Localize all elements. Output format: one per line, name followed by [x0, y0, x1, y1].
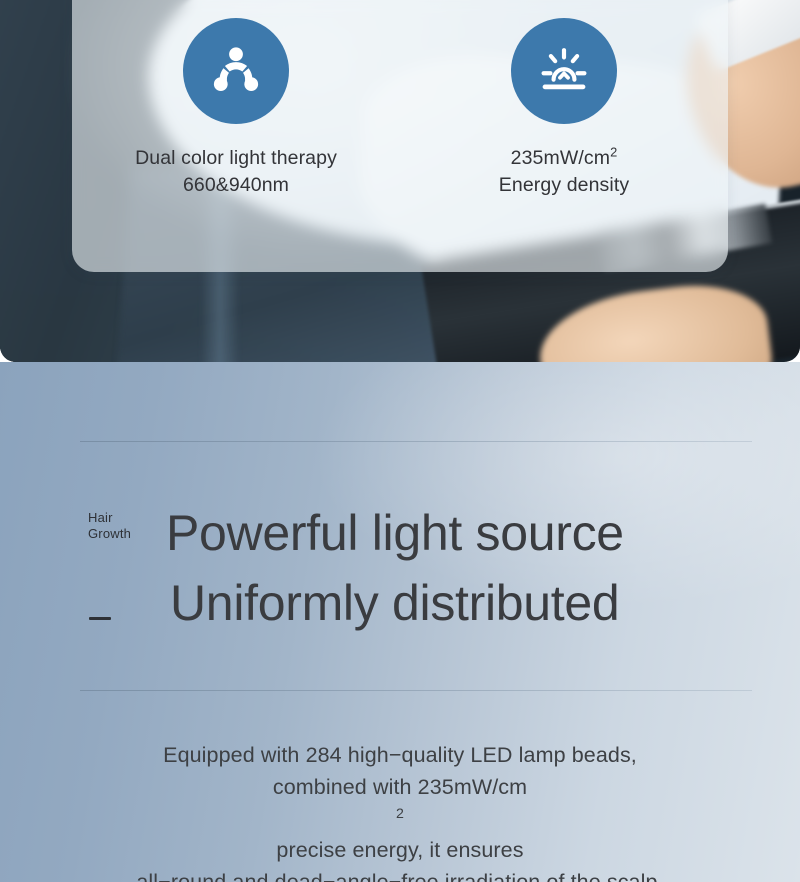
- body-line2-post: precise energy, it ensures: [0, 835, 800, 867]
- feature-caption-line1: 235mW/cm2: [511, 147, 618, 169]
- sunrise-light-icon: [511, 18, 617, 124]
- body-line1: Equipped with 284 high−quality LED lamp …: [0, 740, 800, 772]
- feature-caption-line2: 660&940nm: [135, 172, 337, 199]
- eyebrow-line1: Hair: [88, 510, 113, 525]
- eyebrow-line2: Growth: [88, 526, 131, 542]
- feature-glass-card: Dual color light therapy 660&940nm: [72, 0, 728, 272]
- page-title: Powerful light source Uniformly distribu…: [166, 498, 624, 638]
- feature-caption-line2: Energy density: [499, 172, 629, 199]
- feature-caption-superscript: 2: [610, 145, 617, 160]
- feature-dual-color-light-therapy: Dual color light therapy 660&940nm: [72, 0, 400, 199]
- feature-caption: Dual color light therapy 660&940nm: [135, 145, 337, 199]
- divider-bottom: [80, 690, 752, 691]
- hero-photo-section: Dual color light therapy 660&940nm: [0, 0, 800, 362]
- body-line2-pre: combined with 235mW/cm: [0, 772, 800, 804]
- headline-line1: Powerful light source: [166, 505, 624, 561]
- divider-top: [80, 441, 752, 442]
- feature-caption-value: 235mW/cm: [511, 147, 610, 169]
- feature-caption: 235mW/cm2 Energy density: [499, 145, 629, 199]
- eyebrow-label: Hair Growth: [88, 510, 131, 542]
- content-section: Hair Growth Powerful light source Unifor…: [0, 362, 800, 882]
- body-line2-superscript: 2: [396, 805, 404, 821]
- feature-row: Dual color light therapy 660&940nm: [72, 0, 728, 199]
- body-line2: combined with 235mW/cm2 precise energy, …: [0, 772, 800, 867]
- body-line3: all−round and dead−angle−free irradiatio…: [0, 867, 800, 882]
- feature-caption-line1: Dual color light therapy: [135, 147, 337, 169]
- dash-mark: [89, 617, 111, 620]
- body-copy: Equipped with 284 high−quality LED lamp …: [0, 740, 800, 882]
- collaboration-molecule-icon: [183, 18, 289, 124]
- headline-line2: Uniformly distributed: [166, 568, 624, 638]
- feature-energy-density: 235mW/cm2 Energy density: [400, 0, 728, 199]
